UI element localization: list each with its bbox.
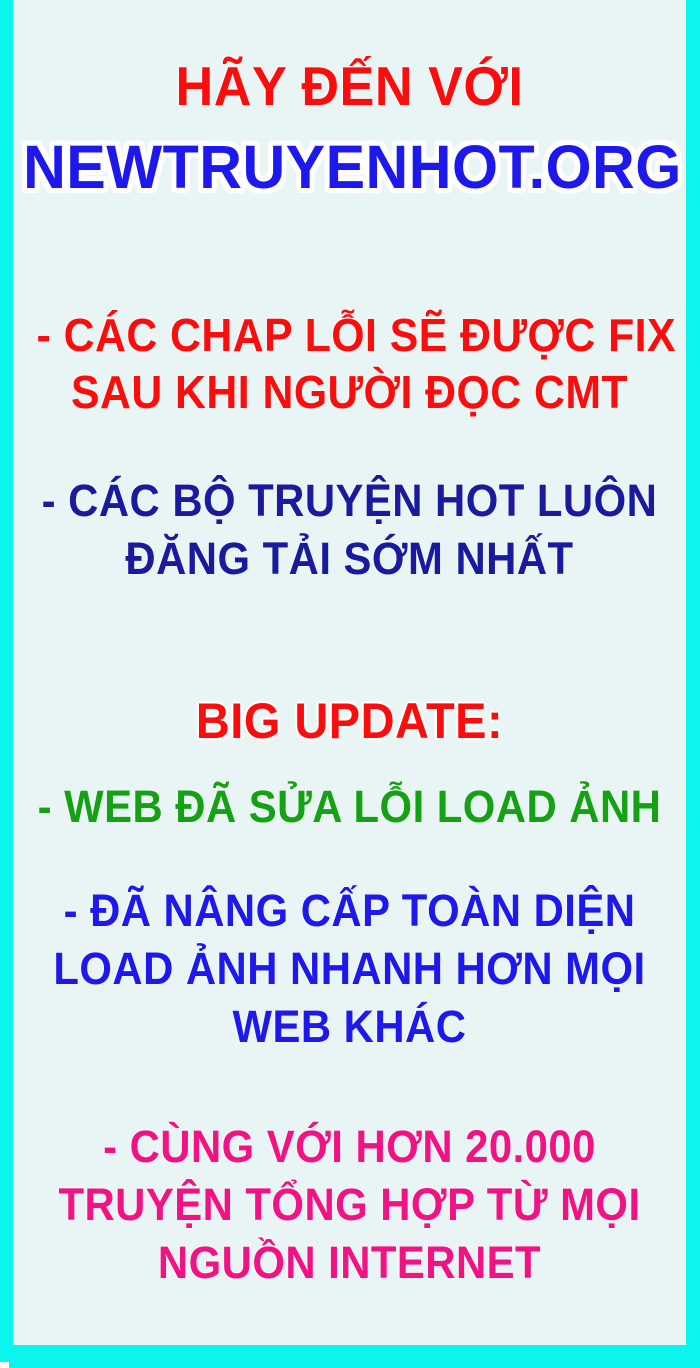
update-pink-line-2: TRUYỆN TỔNG HỢP TỪ MỌI xyxy=(37,1182,663,1228)
promo-poster: HÃY ĐẾN VỚI NEWTRUYENHOT.ORG - CÁC CHAP … xyxy=(0,0,700,1368)
frame-corner-notch xyxy=(0,1362,9,1368)
headline-block: HÃY ĐẾN VỚI xyxy=(13,58,686,114)
big-update-title: BIG UPDATE: xyxy=(33,696,666,747)
update-pink-line-1: - CÙNG VỚI HƠN 20.000 xyxy=(37,1124,663,1170)
notice-navy-line-2: ĐĂNG TẢI SỚM NHẤT xyxy=(37,536,663,582)
notice-navy-block: - CÁC BỘ TRUYỆN HOT LUÔN ĐĂNG TẢI SỚM NH… xyxy=(13,478,686,582)
update-blue-line-1: - ĐÃ NÂNG CẤP TOÀN DIỆN xyxy=(37,888,663,934)
notice-red-line-1: - CÁC CHAP LỖI SẼ ĐƯỢC FIX xyxy=(37,312,663,359)
update-green-block: - WEB ĐÃ SỬA LỖI LOAD ẢNH xyxy=(13,784,686,830)
frame-edge-right xyxy=(686,0,700,1368)
update-blue-line-2: LOAD ẢNH NHANH HƠN MỌI xyxy=(37,946,663,992)
notice-red-line-2: SAU KHI NGƯỜI ĐỌC CMT xyxy=(37,369,663,416)
update-blue-block: - ĐÃ NÂNG CẤP TOÀN DIỆN LOAD ẢNH NHANH H… xyxy=(13,888,686,1050)
site-domain-text[interactable]: NEWTRUYENHOT.ORG xyxy=(23,136,676,198)
notice-navy-line-1: - CÁC BỘ TRUYỆN HOT LUÔN xyxy=(37,478,663,524)
domain-block: NEWTRUYENHOT.ORG xyxy=(13,136,686,198)
update-blue-line-3: WEB KHÁC xyxy=(37,1004,663,1050)
update-pink-block: - CÙNG VỚI HƠN 20.000 TRUYỆN TỔNG HỢP TỪ… xyxy=(13,1124,686,1286)
poster-content: HÃY ĐẾN VỚI NEWTRUYENHOT.ORG - CÁC CHAP … xyxy=(13,0,686,1368)
frame-edge-left xyxy=(0,0,13,1368)
update-green-line-1: - WEB ĐÃ SỬA LỖI LOAD ẢNH xyxy=(37,784,663,830)
headline-text: HÃY ĐẾN VỚI xyxy=(30,58,669,114)
big-update-block: BIG UPDATE: xyxy=(13,696,686,747)
update-pink-line-3: NGUỒN INTERNET xyxy=(37,1240,663,1286)
notice-red-block: - CÁC CHAP LỖI SẼ ĐƯỢC FIX SAU KHI NGƯỜI… xyxy=(13,312,686,416)
